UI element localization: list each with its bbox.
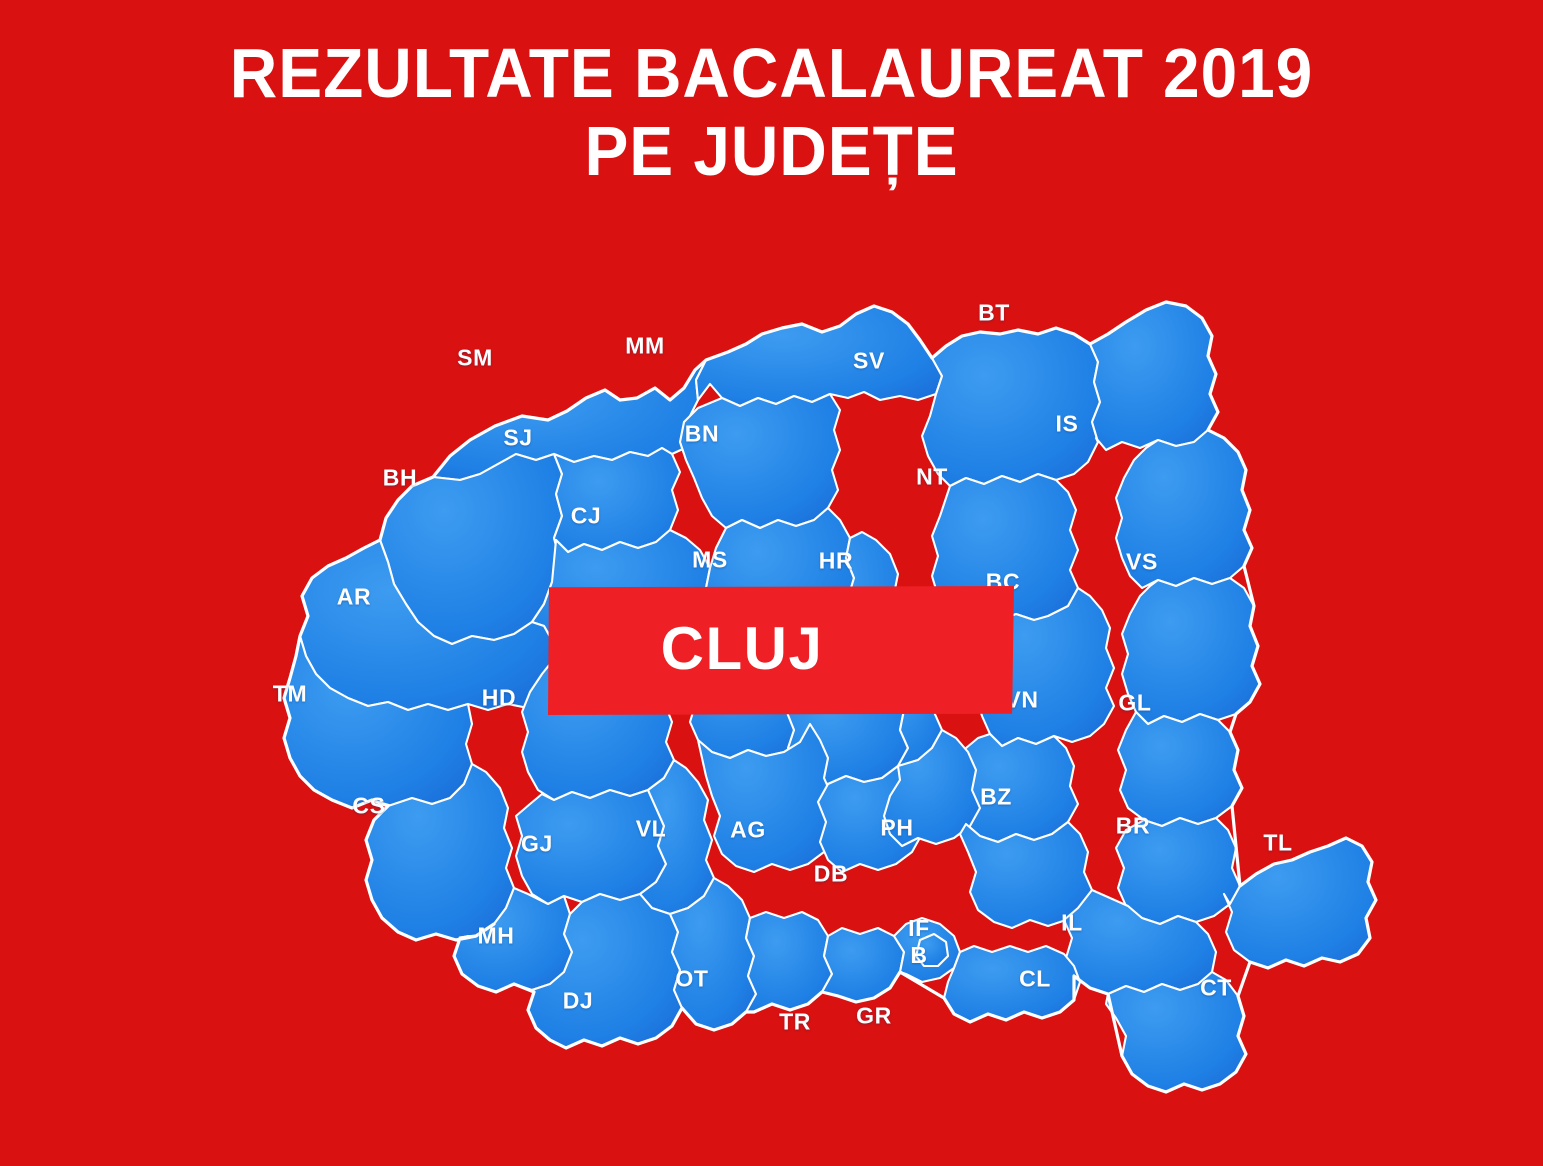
county-label-HD[interactable]: HD	[482, 686, 516, 711]
county-label-GR[interactable]: GR	[856, 1004, 892, 1029]
county-label-line: IF	[908, 915, 930, 942]
county-label-GJ[interactable]: GJ	[521, 832, 553, 857]
county-GR[interactable]	[822, 928, 904, 1002]
county-SV[interactable]	[922, 328, 1100, 486]
county-label-CL[interactable]: CL	[1019, 967, 1051, 992]
cluj-highlight-banner[interactable]: CLUJ	[548, 586, 1014, 715]
county-label-DJ[interactable]: DJ	[563, 989, 594, 1014]
county-label-OT[interactable]: OT	[675, 967, 708, 992]
county-label-TL[interactable]: TL	[1263, 831, 1292, 856]
county-label-BR[interactable]: BR	[1116, 814, 1150, 839]
county-label-MH[interactable]: MH	[478, 924, 515, 949]
cluj-banner-label: CLUJ	[661, 619, 824, 679]
county-label-BN[interactable]: BN	[685, 422, 719, 447]
county-label-VS[interactable]: VS	[1126, 550, 1158, 575]
county-label-SM[interactable]: SM	[457, 346, 493, 371]
page-title: REZULTATE BACALAUREAT 2019 PE JUDEȚE	[0, 34, 1543, 190]
county-label-AG[interactable]: AG	[730, 818, 766, 843]
county-label-CS[interactable]: CS	[352, 794, 385, 819]
county-label-BT[interactable]: BT	[978, 301, 1010, 326]
county-label-TR[interactable]: TR	[779, 1010, 811, 1035]
county-label-IS[interactable]: IS	[1056, 412, 1079, 437]
county-label-HR[interactable]: HR	[819, 549, 853, 574]
county-label-SJ[interactable]: SJ	[503, 426, 532, 451]
county-label-PH[interactable]: PH	[880, 816, 913, 841]
county-BN[interactable]	[680, 394, 840, 528]
county-label-GL[interactable]: GL	[1118, 691, 1151, 716]
poster-canvas: REZULTATE BACALAUREAT 2019 PE JUDEȚE	[0, 0, 1543, 1166]
county-BT[interactable]	[1090, 302, 1218, 450]
county-label-BZ[interactable]: BZ	[980, 785, 1012, 810]
county-label-NT[interactable]: NT	[916, 465, 948, 490]
county-label-IL[interactable]: IL	[1061, 911, 1083, 936]
county-label-IFB[interactable]: IFB	[908, 915, 930, 969]
county-label-CT[interactable]: CT	[1200, 976, 1232, 1001]
county-label-MS[interactable]: MS	[692, 548, 728, 573]
county-label-line: B	[908, 942, 930, 969]
county-label-MM[interactable]: MM	[625, 334, 665, 359]
title-line-2: PE JUDEȚE	[46, 112, 1496, 190]
title-line-1: REZULTATE BACALAUREAT 2019	[46, 34, 1496, 112]
county-label-TM[interactable]: TM	[273, 682, 307, 707]
county-TR[interactable]	[746, 912, 832, 1012]
county-label-CJ[interactable]: CJ	[571, 504, 602, 529]
county-label-VL[interactable]: VL	[636, 817, 667, 842]
county-label-AR[interactable]: AR	[337, 585, 371, 610]
county-VN[interactable]	[956, 734, 1078, 842]
county-label-DB[interactable]: DB	[814, 862, 848, 887]
county-label-SV[interactable]: SV	[853, 349, 885, 374]
county-label-BH[interactable]: BH	[383, 466, 417, 491]
county-GL[interactable]	[1118, 712, 1242, 826]
